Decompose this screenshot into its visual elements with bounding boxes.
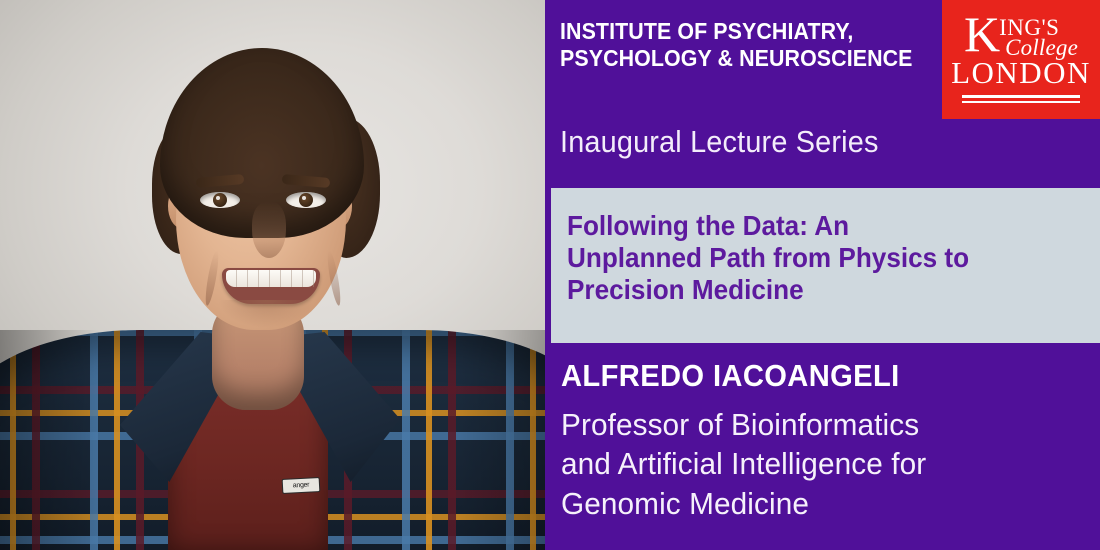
speaker-role-line3: Genomic Medicine bbox=[561, 484, 1060, 523]
eye-right bbox=[286, 192, 326, 208]
lecture-title-line3: Precision Medicine bbox=[567, 274, 1057, 306]
speaker-role: Professor of Bioinformatics and Artifici… bbox=[561, 405, 1060, 523]
iris-right bbox=[299, 193, 313, 207]
lecture-title-line2: Unplanned Path from Physics to bbox=[567, 242, 1057, 274]
speaker-role-line2: and Artificial Intelligence for bbox=[561, 444, 1060, 483]
iris-left bbox=[213, 193, 227, 207]
logo-rules bbox=[962, 92, 1080, 103]
institute-title: INSTITUTE OF PSYCHIATRY, PSYCHOLOGY & NE… bbox=[560, 18, 923, 72]
eye-left bbox=[200, 192, 240, 208]
nose bbox=[252, 202, 286, 258]
lecture-title-line1: Following the Data: An bbox=[567, 210, 1057, 242]
series-label: Inaugural Lecture Series bbox=[560, 125, 879, 159]
speaker-name: ALFREDO IACOANGELI bbox=[561, 360, 900, 391]
teeth bbox=[226, 270, 316, 287]
lecture-title-band: Following the Data: An Unplanned Path fr… bbox=[545, 188, 1100, 343]
info-panel: INSTITUTE OF PSYCHIATRY, PSYCHOLOGY & NE… bbox=[545, 0, 1100, 550]
shirt-label: anger bbox=[282, 477, 321, 494]
institute-title-line2: PSYCHOLOGY & NEUROSCIENCE bbox=[560, 45, 923, 72]
smiling-mouth bbox=[222, 268, 320, 304]
kings-college-london-logo: K ING'S College LONDON bbox=[942, 0, 1100, 119]
header-band: INSTITUTE OF PSYCHIATRY, PSYCHOLOGY & NE… bbox=[545, 0, 1100, 188]
logo-text-london: LONDON bbox=[951, 57, 1091, 88]
logo-kings-row: K ING'S College bbox=[964, 14, 1078, 60]
speaker-band: ALFREDO IACOANGELI Professor of Bioinfor… bbox=[545, 343, 1100, 550]
logo-kings-rest: ING'S College bbox=[999, 17, 1078, 60]
institute-title-line1: INSTITUTE OF PSYCHIATRY, bbox=[560, 18, 923, 45]
chin-shadow bbox=[218, 300, 314, 328]
logo-letter-k: K bbox=[964, 14, 999, 55]
speaker-photo: anger bbox=[0, 0, 545, 550]
lecture-title: Following the Data: An Unplanned Path fr… bbox=[567, 210, 1057, 307]
speaker-role-line1: Professor of Bioinformatics bbox=[561, 405, 1060, 444]
lecture-poster: anger INSTITUTE OF PSYCHIATRY, PSYCHOLOG… bbox=[0, 0, 1100, 550]
